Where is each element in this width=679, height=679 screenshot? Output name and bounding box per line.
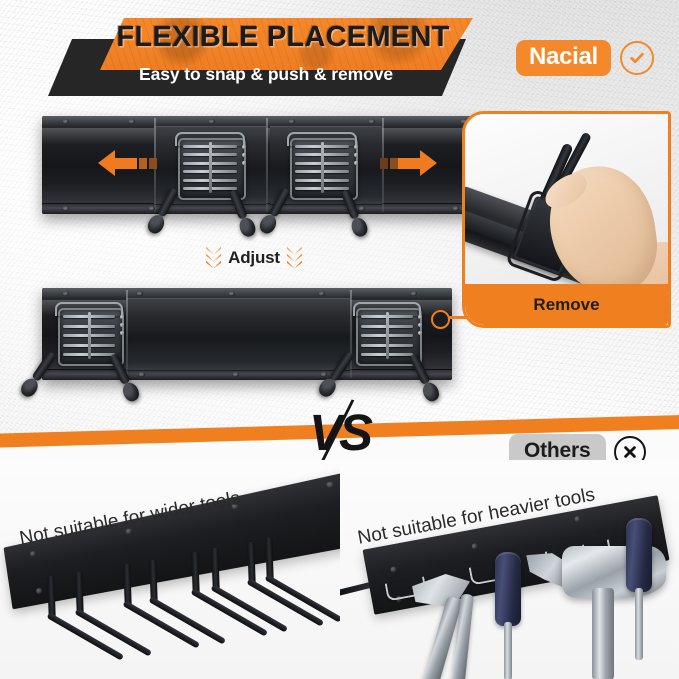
competitor-prong-riser [123, 564, 131, 606]
infographic-canvas: FLEXIBLE PLACEMENT Easy to snap & push &… [0, 0, 679, 679]
rail-screw [62, 119, 69, 124]
arrow-left-icon [98, 150, 157, 176]
rail-screw [62, 206, 69, 211]
adjust-indicator: Adjust [186, 240, 322, 276]
competitor-prong-riser [211, 548, 219, 590]
hook-bracket [58, 308, 120, 362]
rail-screw [148, 206, 155, 211]
stray-prong [340, 582, 372, 597]
rail-screw [320, 372, 327, 377]
rail-screw [62, 291, 69, 296]
competitor-prong-riser [191, 552, 199, 594]
product-rail-adjustable-bottom [42, 288, 452, 380]
arrow-right-icon [378, 150, 437, 176]
brand-name-label: Nacial [516, 40, 611, 76]
rail-screw [288, 119, 295, 124]
vs-label: VS [309, 404, 387, 466]
check-circle-icon [620, 41, 654, 75]
page-title: FLEXIBLE PLACEMENT [115, 16, 452, 58]
bracket-center-post [321, 142, 324, 193]
competitor-prong-riser [265, 538, 273, 580]
competitor-prong-riser [247, 542, 255, 584]
callout-marker-icon [431, 310, 450, 329]
rail-screw [228, 291, 235, 296]
callout-frame: Remove [462, 111, 671, 328]
brand-badge: Nacial [516, 40, 654, 76]
bracket-center-post [209, 142, 212, 193]
rail-screw [368, 119, 375, 124]
bracket-detent-dots [354, 145, 358, 165]
rail-screw [208, 119, 215, 124]
comparison-panel-heavier-tools: Not suitable for heavier tools [340, 460, 679, 679]
rail-screw [128, 119, 135, 124]
rail-screw [136, 291, 143, 296]
bracket-center-post [386, 312, 389, 359]
chevron-double-down-icon [206, 248, 221, 269]
adjust-label: Adjust [228, 248, 280, 268]
bracket-center-post [88, 312, 91, 359]
competitor-prong-riser [75, 572, 83, 614]
callout-label: Remove [465, 284, 668, 325]
callout-photo-hand-removing-hook [465, 114, 668, 284]
rail-screw [452, 206, 459, 211]
bracket-detent-dots [242, 145, 246, 165]
bracket-detent-dots [120, 315, 124, 335]
hook-bracket [356, 308, 418, 362]
competitor-prong-riser [47, 576, 55, 618]
bracket-detent-dots [418, 315, 422, 335]
hook-bracket [290, 138, 354, 196]
comparison-section: Not suitable for wider tools [0, 460, 679, 679]
comparison-panel-wider-tools: Not suitable for wider tools [0, 460, 340, 679]
rail-screw [410, 291, 417, 296]
rail-screw [138, 372, 145, 377]
chevron-double-down-icon [287, 248, 302, 269]
hook-bracket [178, 138, 242, 196]
rail-channel-segment [126, 298, 350, 371]
product-rail-adjustable-top [42, 116, 490, 214]
rail-seam [266, 118, 268, 212]
remove-callout: Remove [462, 111, 671, 328]
rail-screw [232, 372, 239, 377]
competitor-prong-riser [149, 560, 157, 602]
rail-screw [318, 291, 325, 296]
page-subtitle: Easy to snap & push & remove [96, 61, 436, 87]
